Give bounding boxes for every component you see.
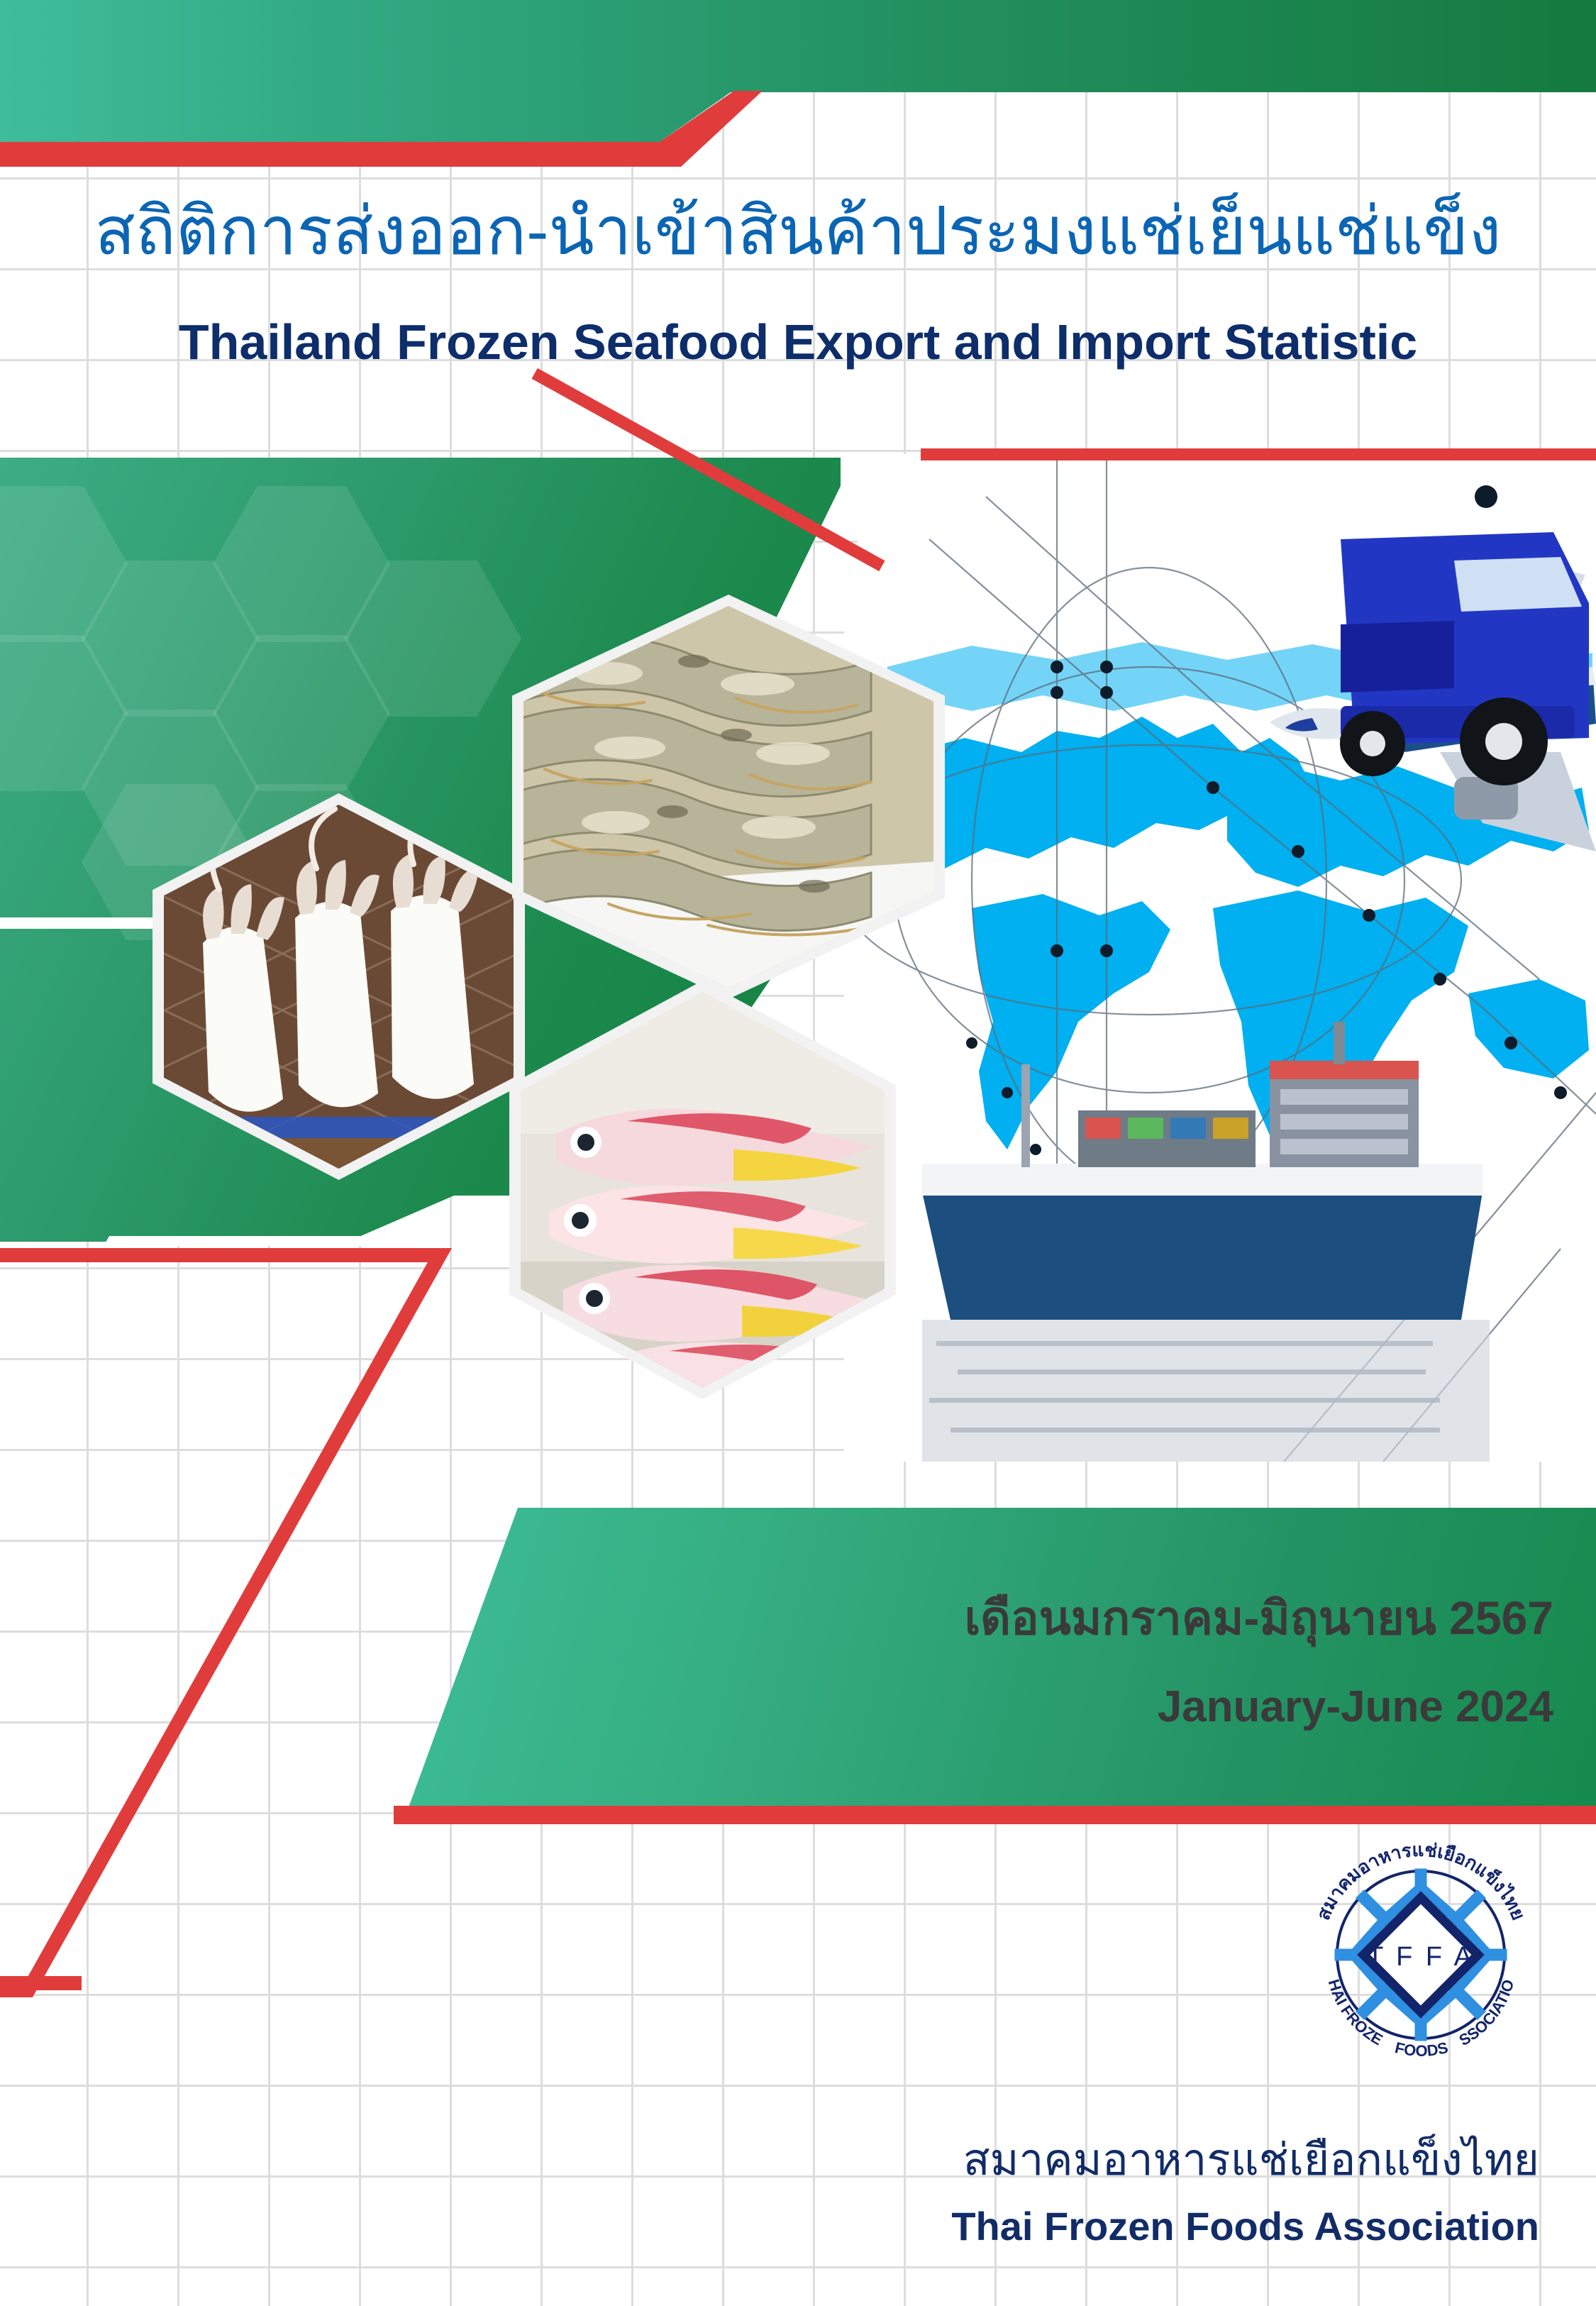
svg-text:FOODS: FOODS bbox=[1393, 2039, 1450, 2060]
logistics-montage-image bbox=[844, 454, 1596, 1462]
period-red-stripe bbox=[394, 1806, 1596, 1824]
logo-acronym: T F F A bbox=[1367, 1942, 1475, 1972]
period-banner bbox=[340, 1508, 1596, 1809]
page-title-thai: สถิติการส่งออก-นำเข้าสินค้าประมงแช่เย็นแ… bbox=[0, 193, 1596, 270]
tffa-logo: T F F A สมาคมอาหารแช่เยือกแข็งไทย THAI F… bbox=[1297, 1831, 1545, 2079]
cover-page: สถิติการส่งออก-นำเข้าสินค้าประมงแช่เย็นแ… bbox=[0, 0, 1596, 2306]
publisher-thai: สมาคมอาหารแช่เยือกแข็งไทย bbox=[0, 2125, 1539, 2195]
montage-red-frame bbox=[837, 448, 1596, 491]
logo-arc-foods: FOODS bbox=[1393, 2039, 1450, 2060]
montage-artwork bbox=[844, 454, 1596, 1462]
period-thai: เดือนมกราคม-มิถุนายน 2567 bbox=[0, 1581, 1553, 1655]
page-title-english: Thailand Frozen Seafood Export and Impor… bbox=[0, 312, 1596, 372]
publisher-english: Thai Frozen Foods Association bbox=[0, 2203, 1539, 2249]
period-english: January-June 2024 bbox=[0, 1682, 1553, 1732]
